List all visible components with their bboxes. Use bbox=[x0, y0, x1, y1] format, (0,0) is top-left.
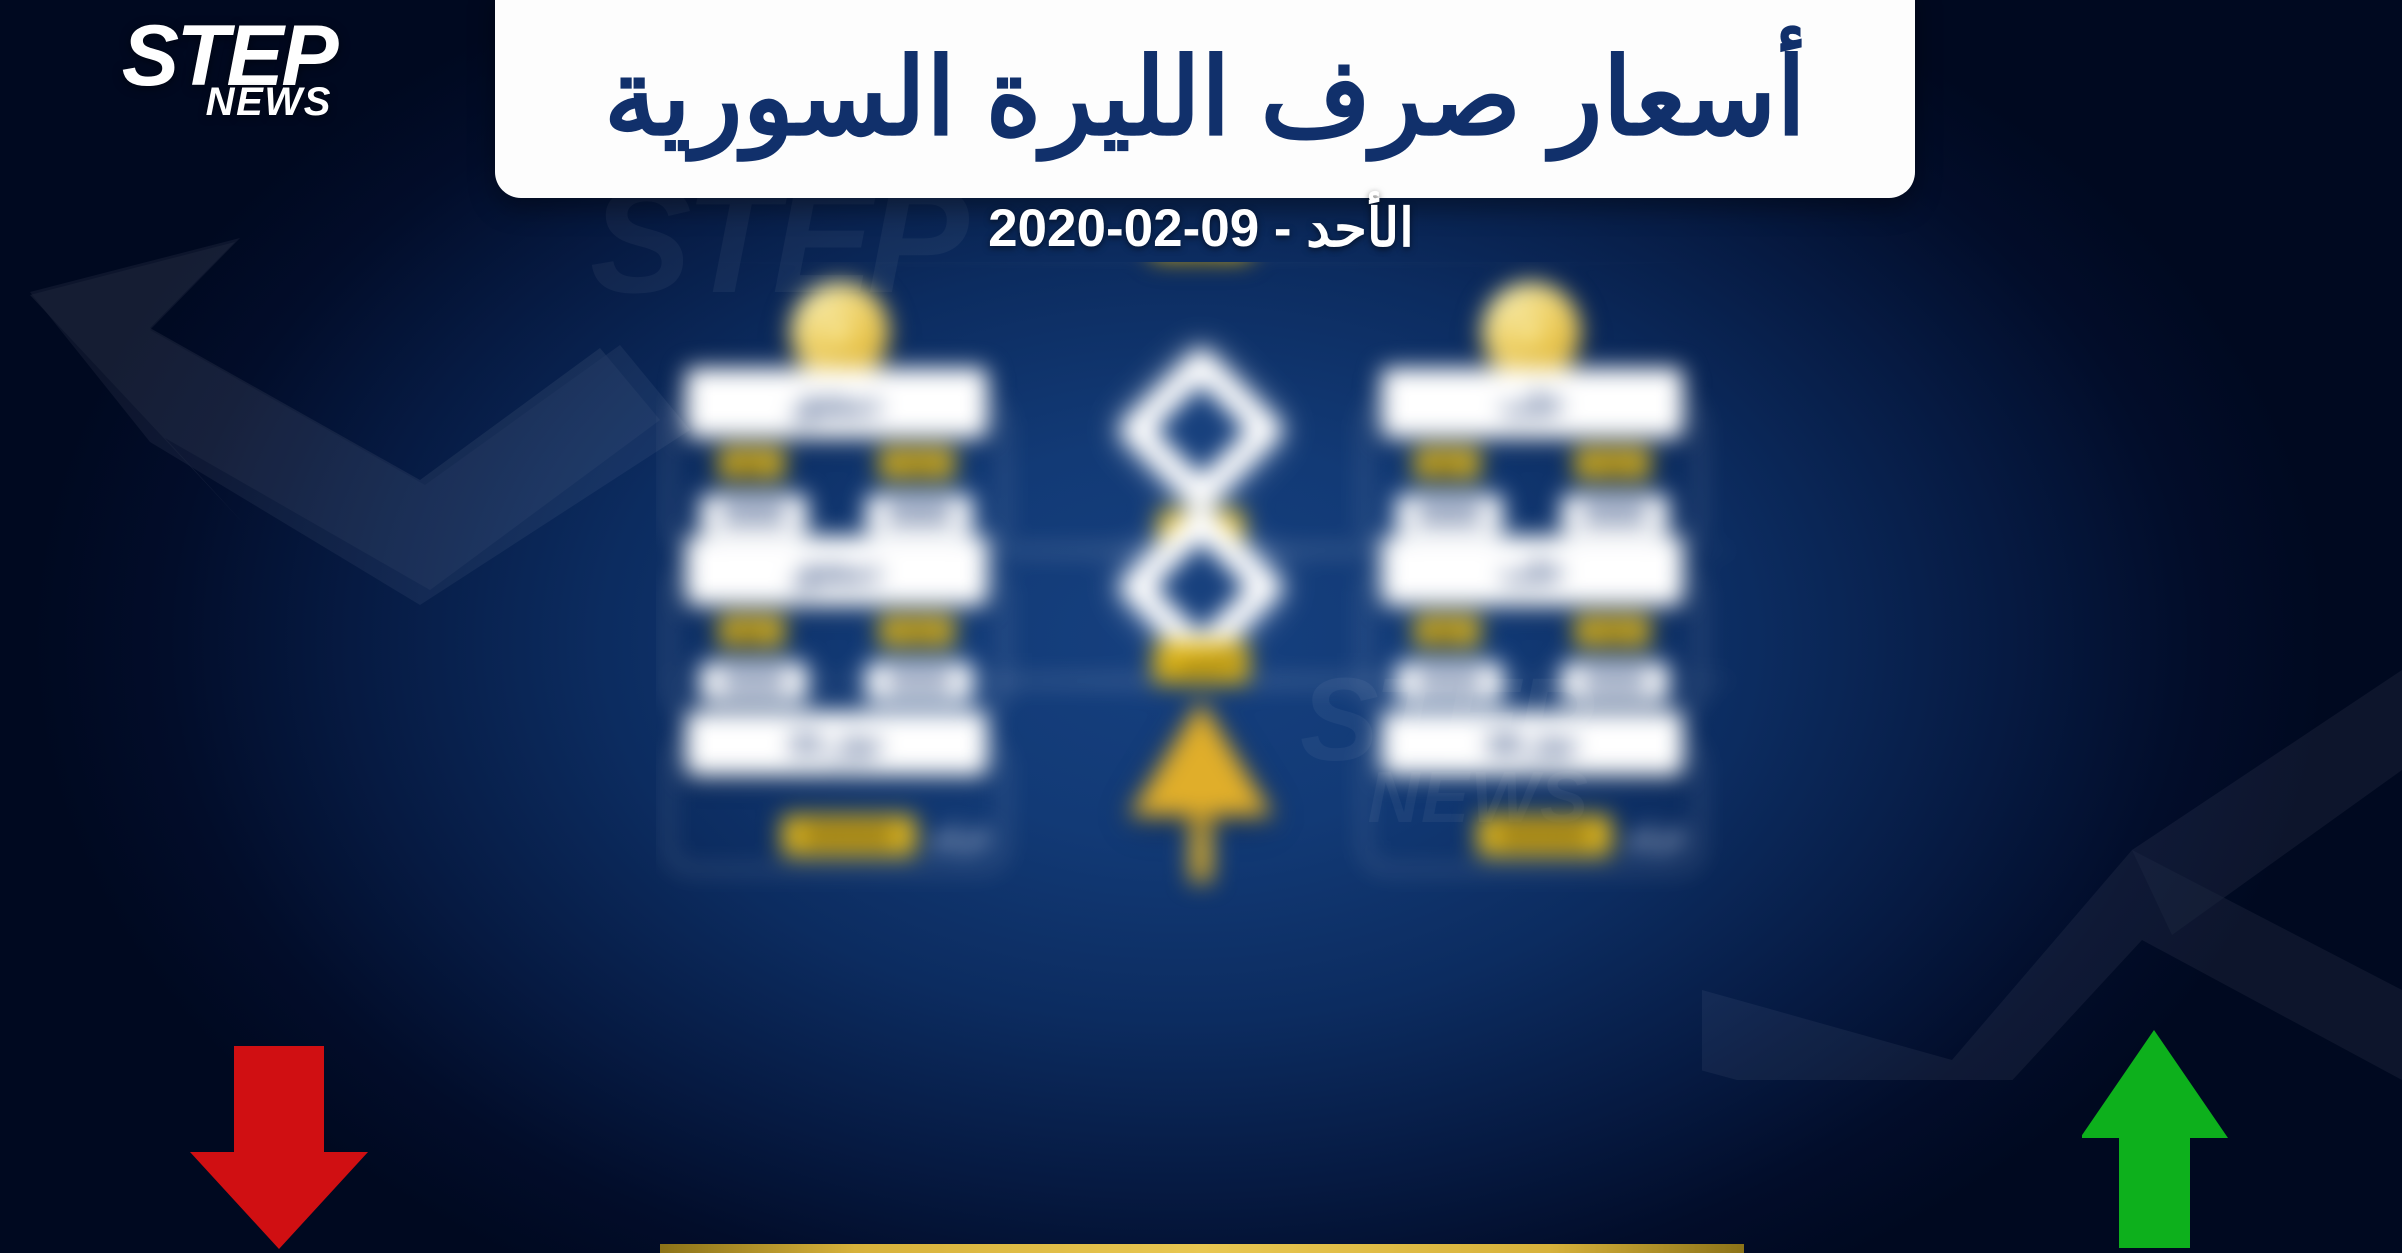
title-banner: أسعار صرف الليرة السورية bbox=[495, 0, 1915, 198]
exchange-rate-panel: الدولار دمشق شراء مبيع 0000 0000 bbox=[656, 262, 1746, 1253]
rate-sub-label: شراء bbox=[1575, 449, 1650, 479]
rate-card[interactable]: حلب شراء مبيع 0000 0000 bbox=[1361, 566, 1703, 715]
decorative-downward-trend-arrow bbox=[0, 180, 760, 820]
banknote-diamond-core-2 bbox=[1156, 542, 1246, 632]
logo-news-text: NEWS bbox=[206, 80, 332, 125]
banknote-diamond-core-1 bbox=[1156, 385, 1246, 475]
arrow-down-icon bbox=[172, 1042, 387, 1253]
gold-unit-label: غرام bbox=[933, 819, 990, 853]
rate-card-sub-row: شراء مبيع bbox=[671, 616, 1002, 646]
gold-card-title: عيار 21 bbox=[686, 711, 988, 775]
exchange-rate-panel-inner: الدولار دمشق شراء مبيع 0000 0000 bbox=[656, 262, 1746, 1253]
rate-value: 0000 bbox=[1396, 494, 1504, 534]
rate-card-sub-row: شراء مبيع bbox=[1367, 449, 1698, 479]
rate-card-title: دمشق bbox=[686, 368, 988, 438]
gold-card-body: غرام 00000 bbox=[1379, 815, 1685, 856]
rate-card[interactable]: دمشق شراء مبيع 0000 0000 bbox=[666, 566, 1008, 715]
date-label: الأحد - 09-02-2020 bbox=[988, 198, 1414, 259]
section-badge-gold: الذهب bbox=[1153, 642, 1248, 683]
rate-sub-label: شراء bbox=[880, 616, 955, 646]
rate-sub-label: مبيع bbox=[719, 616, 785, 646]
banknote-diamond-icon-1 bbox=[1115, 344, 1288, 517]
gold-up-chevron-icon bbox=[1129, 700, 1274, 816]
gold-card-title: عيار 18 bbox=[1381, 711, 1683, 775]
rate-sub-label: مبيع bbox=[1414, 449, 1480, 479]
page-title: أسعار صرف الليرة السورية bbox=[604, 31, 1806, 153]
gold-card[interactable]: عيار 21 غرام 00000 bbox=[666, 739, 1008, 871]
coin-icon-dollar-left bbox=[790, 282, 889, 381]
rate-card-value-row: 0000 0000 bbox=[1367, 494, 1698, 534]
date-row: الأحد - 09-02-2020 bbox=[0, 198, 2402, 259]
gold-unit-label: غرام bbox=[1628, 819, 1685, 853]
rate-sub-label: مبيع bbox=[719, 449, 785, 479]
rate-sub-label: مبيع bbox=[1414, 616, 1480, 646]
rate-card-title: حلب bbox=[1381, 535, 1683, 605]
rate-card-title: حلب bbox=[1381, 368, 1683, 438]
rate-sub-label: شراء bbox=[880, 449, 955, 479]
step-news-logo: STEP NEWS bbox=[36, 18, 336, 128]
gold-card-body: غرام 00000 bbox=[684, 815, 990, 856]
rate-value: 0000 bbox=[866, 494, 974, 534]
gold-value: 00000 bbox=[1477, 815, 1612, 856]
rate-card-sub-row: شراء مبيع bbox=[671, 449, 1002, 479]
gold-value: 00000 bbox=[781, 815, 916, 856]
bottom-gold-strip bbox=[660, 1244, 1744, 1253]
rate-value: 0000 bbox=[700, 494, 808, 534]
coin-icon-dollar-right bbox=[1481, 282, 1580, 381]
infographic-canvas: STEP STEP NEWS STEP NEWS أسعار صرف اللير… bbox=[0, 0, 2402, 1253]
rate-value: 0000 bbox=[1561, 494, 1669, 534]
arrow-up-icon bbox=[2082, 1020, 2262, 1253]
rate-card-sub-row: شراء مبيع bbox=[1367, 616, 1698, 646]
decorative-upward-trend-line bbox=[1702, 520, 2402, 1080]
rate-card-title: دمشق bbox=[686, 535, 988, 605]
rate-sub-label: شراء bbox=[1575, 616, 1650, 646]
rate-card[interactable]: حلب شراء مبيع 0000 0000 bbox=[1361, 398, 1703, 547]
rate-card-value-row: 0000 0000 bbox=[671, 494, 1002, 534]
rate-card[interactable]: دمشق شراء مبيع 0000 0000 bbox=[666, 398, 1008, 547]
gold-card[interactable]: عيار 18 غرام 00000 bbox=[1361, 739, 1703, 871]
